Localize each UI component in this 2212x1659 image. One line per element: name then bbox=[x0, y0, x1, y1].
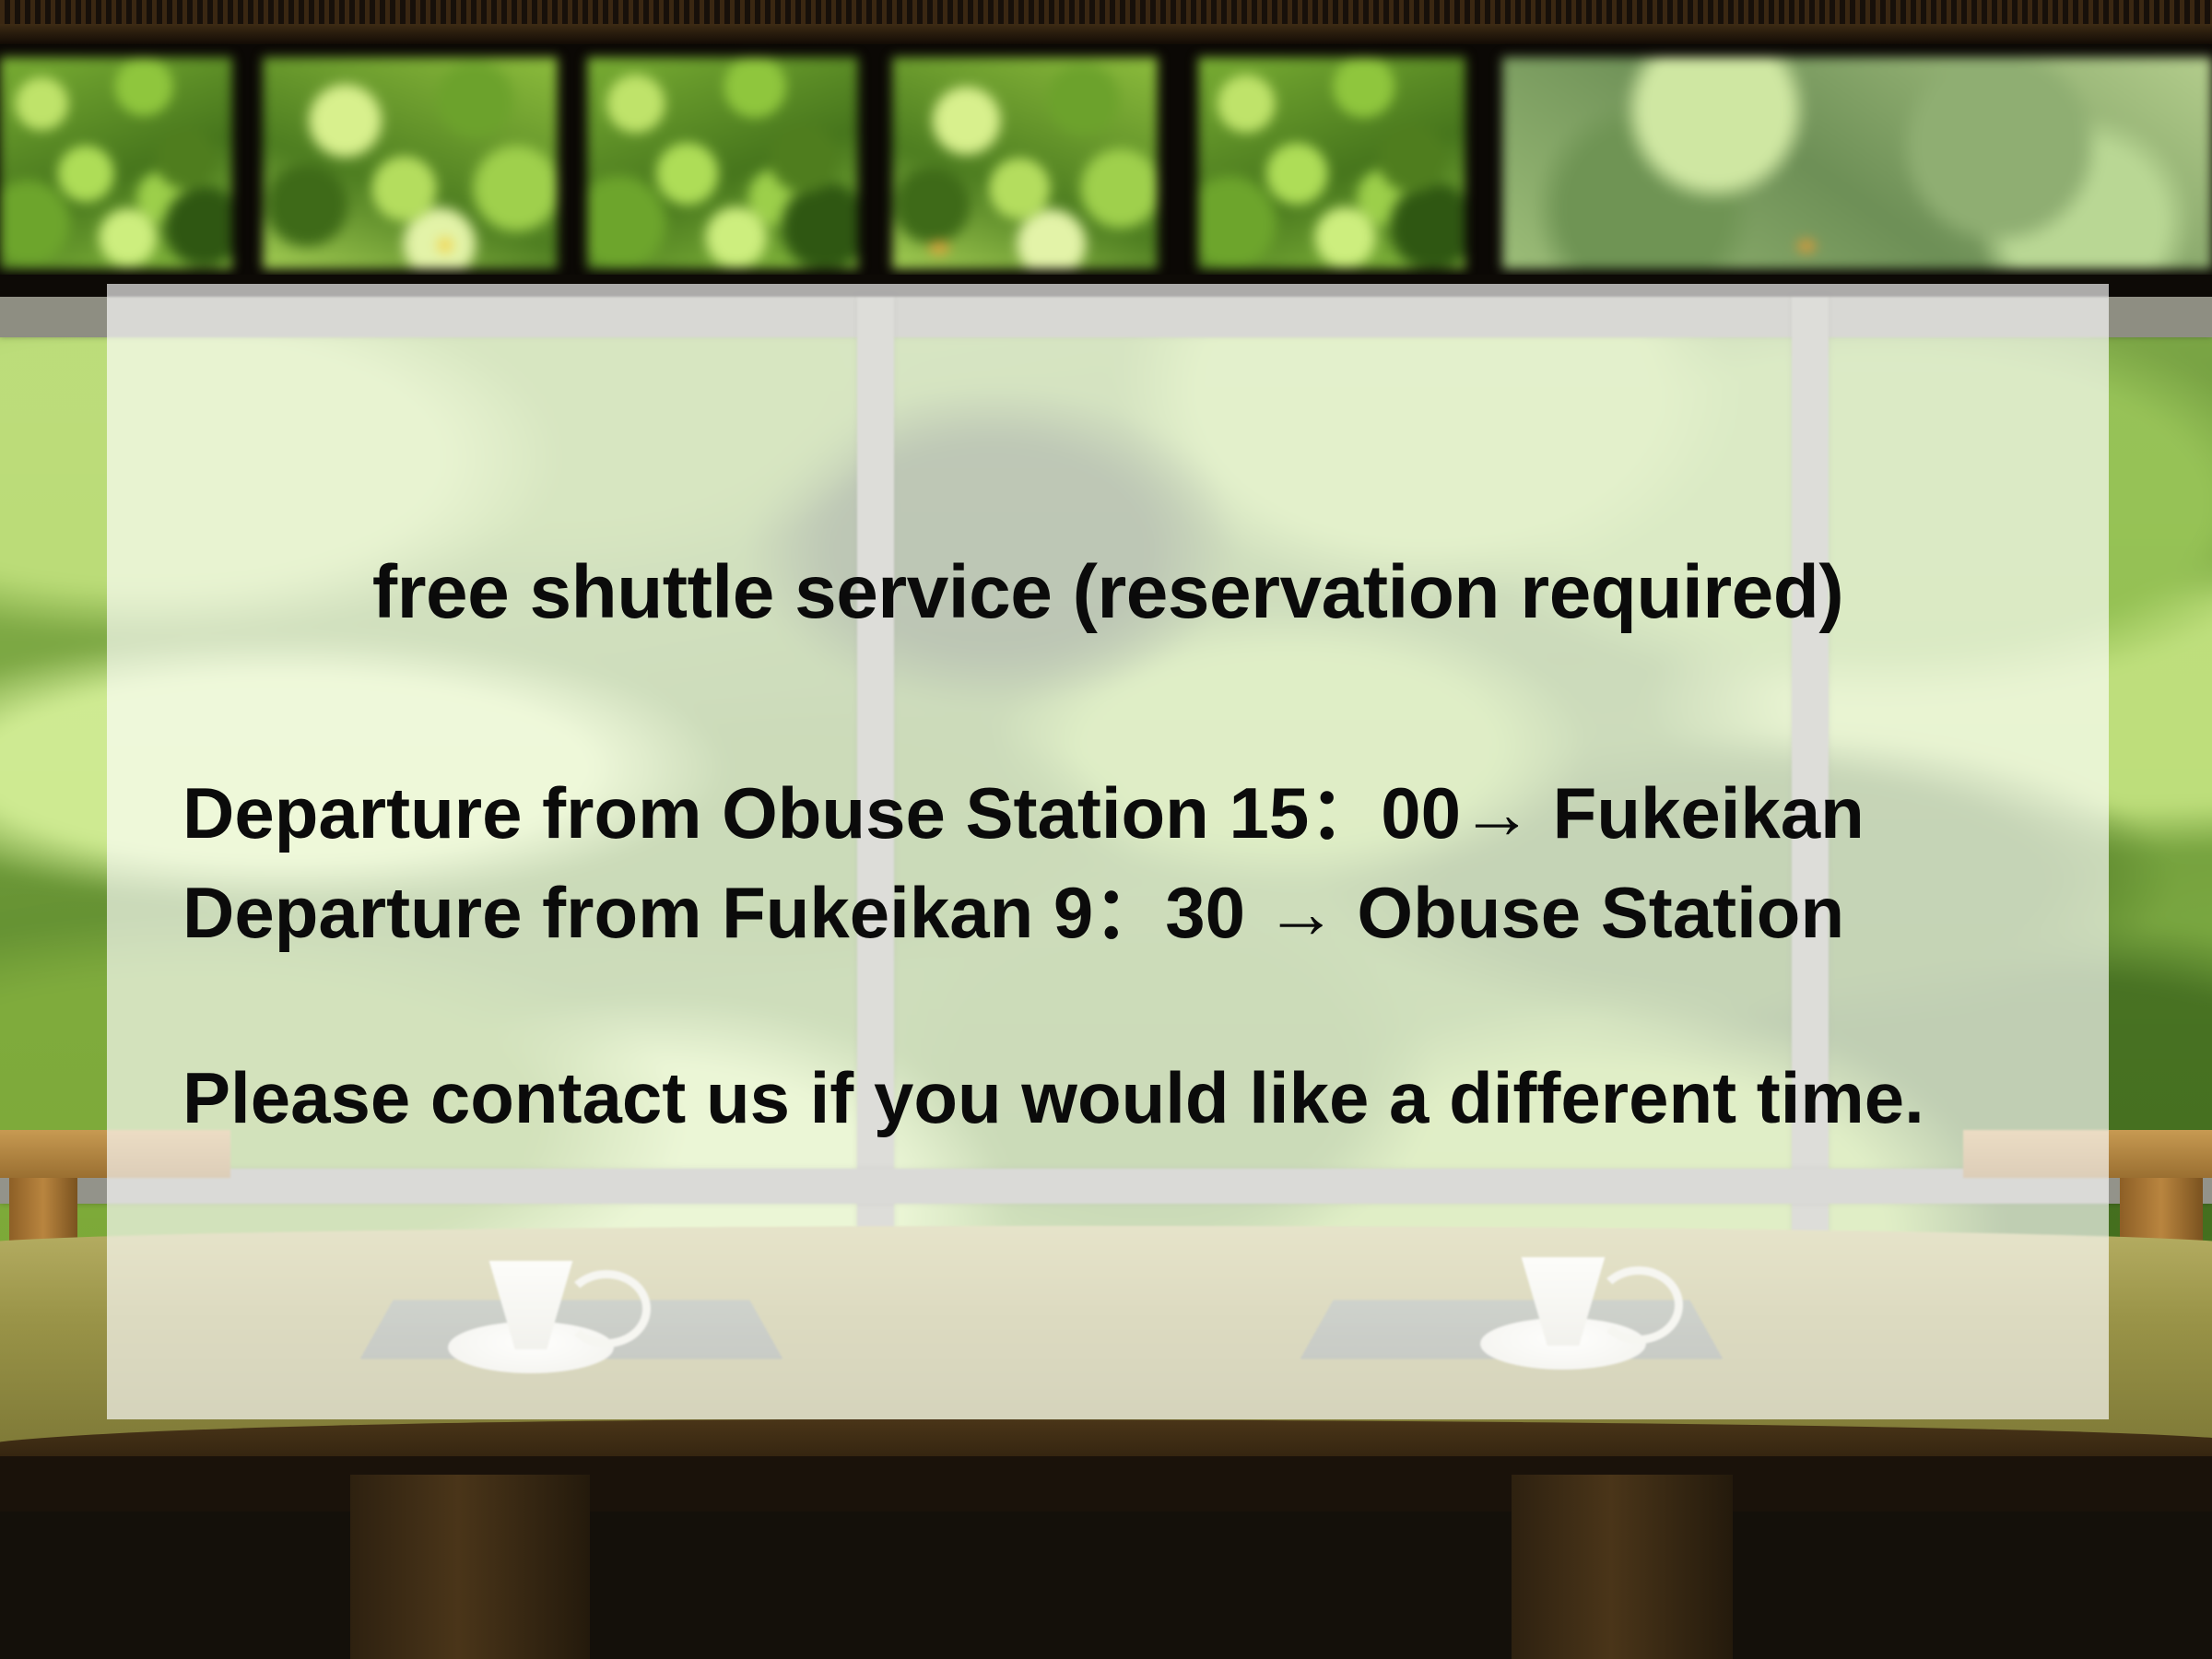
text-layer: free shuttle service (reservation requir… bbox=[107, 284, 2109, 1419]
transom-pane-2 bbox=[263, 57, 558, 269]
floor-shadow bbox=[0, 1456, 2212, 1512]
schedule-line-inbound: Departure from Fukeikan 9：30 → Obuse Sta… bbox=[182, 855, 1844, 959]
table-leg-right bbox=[1512, 1475, 1733, 1659]
slide-canvas: free shuttle service (reservation requir… bbox=[0, 0, 2212, 1659]
headline: free shuttle service (reservation requir… bbox=[107, 549, 2109, 636]
table-leg-left bbox=[350, 1475, 590, 1659]
transom-pane-3 bbox=[587, 57, 858, 269]
transom-pane-1 bbox=[0, 57, 232, 269]
schedule-line-outbound: Departure from Obuse Station 15：00→ Fuke… bbox=[182, 756, 1865, 859]
transom-pane-6 bbox=[1502, 57, 2212, 269]
contact-note: Please contact us if you would like a di… bbox=[182, 1056, 1924, 1140]
ceiling-beam bbox=[0, 0, 2212, 24]
transom-pane-4 bbox=[892, 57, 1158, 269]
ceiling-beam-lower bbox=[0, 24, 2212, 44]
transom-pane-5 bbox=[1198, 57, 1465, 269]
